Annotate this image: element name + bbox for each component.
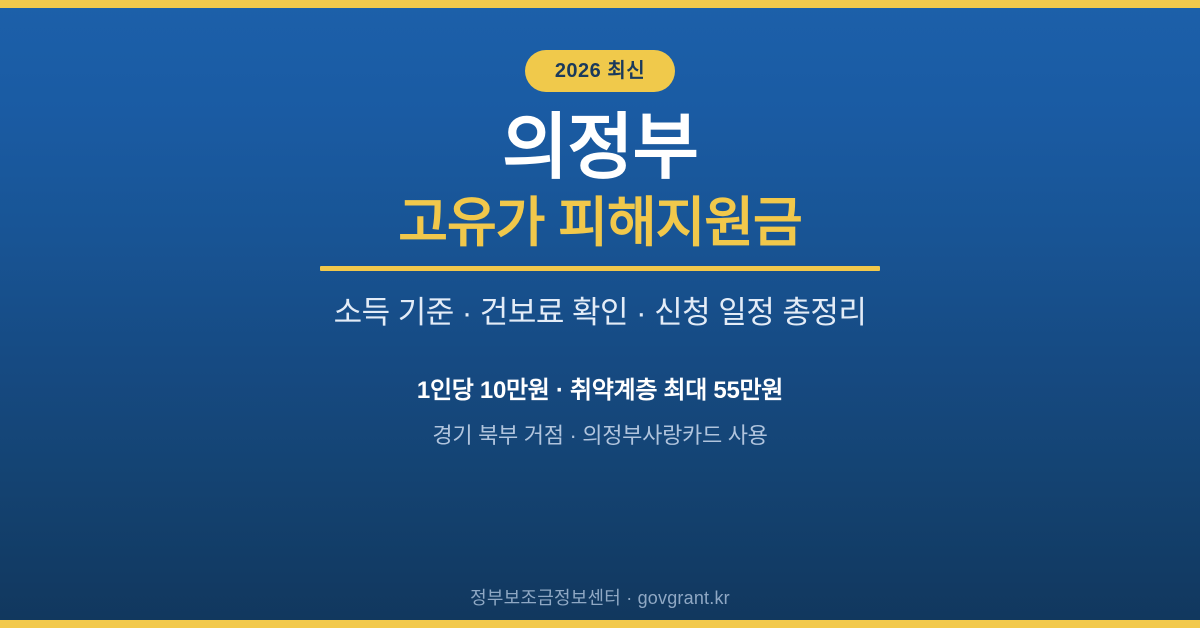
- detail-region-card: 경기 북부 거점 · 의정부사랑카드 사용: [0, 422, 1200, 450]
- page-subtitle: 고유가 피해지원금: [0, 195, 1200, 252]
- details-block: 1인당 10만원 · 취약계층 최대 55만원 경기 북부 거점 · 의정부사랑…: [0, 376, 1200, 450]
- page-title: 의정부: [0, 112, 1200, 185]
- top-accent-bar: [0, 0, 1200, 8]
- title-divider: [320, 266, 880, 271]
- headline-block: 의정부 고유가 피해지원금 소득 기준 · 건보료 확인 · 신청 일정 총정리: [0, 112, 1200, 331]
- badge-container: 2026 최신: [0, 50, 1200, 92]
- detail-amount: 1인당 10만원 · 취약계층 최대 55만원: [0, 376, 1200, 406]
- tagline: 소득 기준 · 건보료 확인 · 신청 일정 총정리: [0, 294, 1200, 331]
- bottom-accent-bar: [0, 620, 1200, 628]
- year-badge: 2026 최신: [525, 50, 675, 92]
- promo-poster: 2026 최신 의정부 고유가 피해지원금 소득 기준 · 건보료 확인 · 신…: [0, 0, 1200, 628]
- footer-source: 정부보조금정보센터 · govgrant.kr: [0, 584, 1200, 610]
